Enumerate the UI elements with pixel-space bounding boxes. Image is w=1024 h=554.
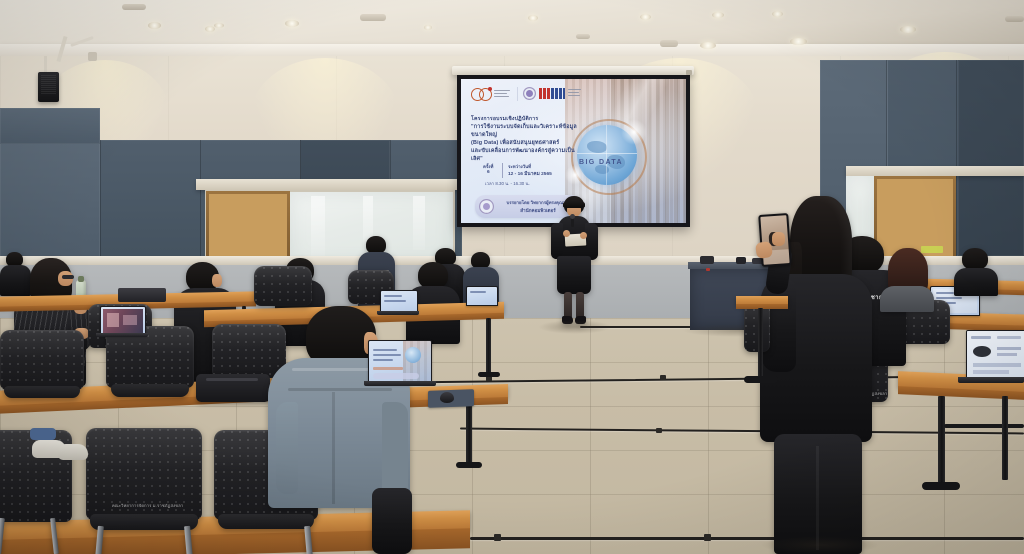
whiteboard-rail — [846, 166, 1024, 176]
podium-equipment — [700, 256, 714, 264]
cable-tape — [660, 375, 666, 380]
speaker-grille — [41, 75, 56, 94]
anniversary-logo — [471, 87, 511, 101]
attendee-sleeve — [382, 402, 408, 498]
ceiling-vent-icon — [576, 34, 590, 39]
desk-leg — [758, 308, 763, 380]
wall-panel-seam — [100, 140, 101, 262]
cable-tape — [704, 534, 711, 541]
presenter-sleeve-left — [551, 223, 563, 259]
bottle-cap — [78, 276, 84, 282]
desk-leg — [938, 396, 945, 488]
podium-equipment — [736, 257, 746, 264]
attendee-hair — [962, 248, 988, 270]
desk-rail — [944, 424, 1024, 428]
whiteboard-rail — [196, 179, 460, 190]
attendee — [952, 248, 1000, 296]
downlight-icon — [528, 15, 538, 21]
equipment-box — [118, 288, 166, 302]
laptop-base[interactable] — [364, 381, 436, 386]
chair[interactable] — [0, 330, 84, 404]
wall-speaker — [38, 72, 59, 102]
attendee-torso — [880, 286, 934, 312]
desk-leg — [486, 318, 491, 374]
desk-foot — [456, 462, 482, 468]
chair[interactable] — [106, 326, 194, 406]
laptop-screen[interactable] — [100, 306, 146, 336]
attendee-trousers — [372, 488, 412, 554]
ceiling-vent-icon — [660, 40, 678, 47]
trouser-seam — [816, 446, 819, 550]
desk-foot — [744, 376, 778, 383]
laptop-base[interactable] — [96, 333, 148, 337]
cable-tape — [494, 534, 501, 541]
presenter-hair — [563, 200, 585, 208]
microphone-head — [570, 214, 575, 219]
laptop-screen[interactable] — [368, 340, 432, 384]
attendee-hair — [418, 262, 448, 289]
slide-graphic-label: BIG DATA — [579, 151, 635, 160]
university-logo — [523, 86, 581, 102]
desk-leg — [466, 400, 472, 464]
mouse[interactable] — [440, 392, 454, 403]
presenter — [546, 196, 602, 330]
videographer — [756, 196, 872, 554]
chair[interactable]: คณะวิทยาการจัดการ ม.ราชภัฏสงขลา — [86, 428, 202, 544]
shirt-yoke-seam — [288, 388, 392, 391]
presenter-hand — [580, 232, 587, 239]
wall-panel — [0, 140, 100, 262]
wall-panel — [958, 60, 1024, 256]
laptop-screen[interactable] — [966, 330, 1024, 380]
downlight-icon — [712, 12, 724, 18]
presenter-sleeve-right — [585, 223, 598, 260]
ceiling-vent-icon — [122, 4, 146, 10]
laptop-base[interactable] — [377, 311, 419, 315]
floor-shadow — [760, 536, 880, 554]
downlight-icon — [790, 38, 807, 45]
attendee — [880, 248, 934, 310]
downlight-icon — [205, 26, 215, 32]
laptop-screen[interactable] — [466, 286, 498, 306]
attendee-ear — [212, 274, 222, 287]
downlight-icon — [700, 42, 716, 49]
shirt-centre-seam — [332, 392, 335, 504]
corkboard — [209, 194, 287, 262]
downlight-icon — [148, 22, 161, 29]
laptop-base[interactable] — [958, 377, 1024, 383]
desk-foot — [478, 372, 500, 377]
presentation-room-photo: BIG DATA โครงการอบรมเชิงปฏิบัติการ "การใ… — [0, 0, 1024, 554]
downlight-icon — [640, 14, 651, 20]
wall-panel — [0, 108, 100, 144]
attendee-sleeve — [276, 402, 298, 494]
slide-details: ครั้งที่ 6 ระหว่างวันที่ 12 - 16 มีนาคม … — [483, 163, 583, 189]
floor-cable — [470, 537, 1024, 540]
trouser-cuff — [30, 428, 56, 440]
chair[interactable] — [744, 300, 770, 360]
podium-indicator — [706, 268, 710, 271]
screen-housing — [452, 66, 694, 75]
wall-panel-seam — [200, 140, 201, 262]
banner-seal-icon — [479, 199, 494, 214]
downlight-icon — [285, 20, 299, 27]
shoe — [58, 444, 88, 460]
downlight-icon — [900, 26, 916, 33]
chair[interactable] — [254, 266, 312, 308]
downlight-icon — [214, 23, 224, 28]
cable-tape — [656, 428, 662, 433]
desk-foot — [922, 482, 960, 490]
downlight-icon — [772, 11, 783, 17]
slide-heading: โครงการอบรมเชิงปฏิบัติการ "การใช้งานระบบ… — [471, 115, 583, 163]
attendee-torso — [954, 268, 998, 296]
bag-strap — [206, 378, 258, 381]
videographer-hand — [772, 232, 785, 246]
presenter-hand — [563, 230, 570, 237]
ceiling-vent-icon — [360, 14, 386, 21]
presenter-skirt — [557, 256, 591, 294]
downlight-icon — [424, 25, 432, 30]
ceiling-vent-icon — [1005, 16, 1024, 22]
speaker-mount-icon — [88, 52, 97, 61]
eyeglasses-icon — [62, 275, 74, 279]
wall-panel-seam — [956, 60, 957, 256]
desk-leg — [1002, 396, 1008, 480]
